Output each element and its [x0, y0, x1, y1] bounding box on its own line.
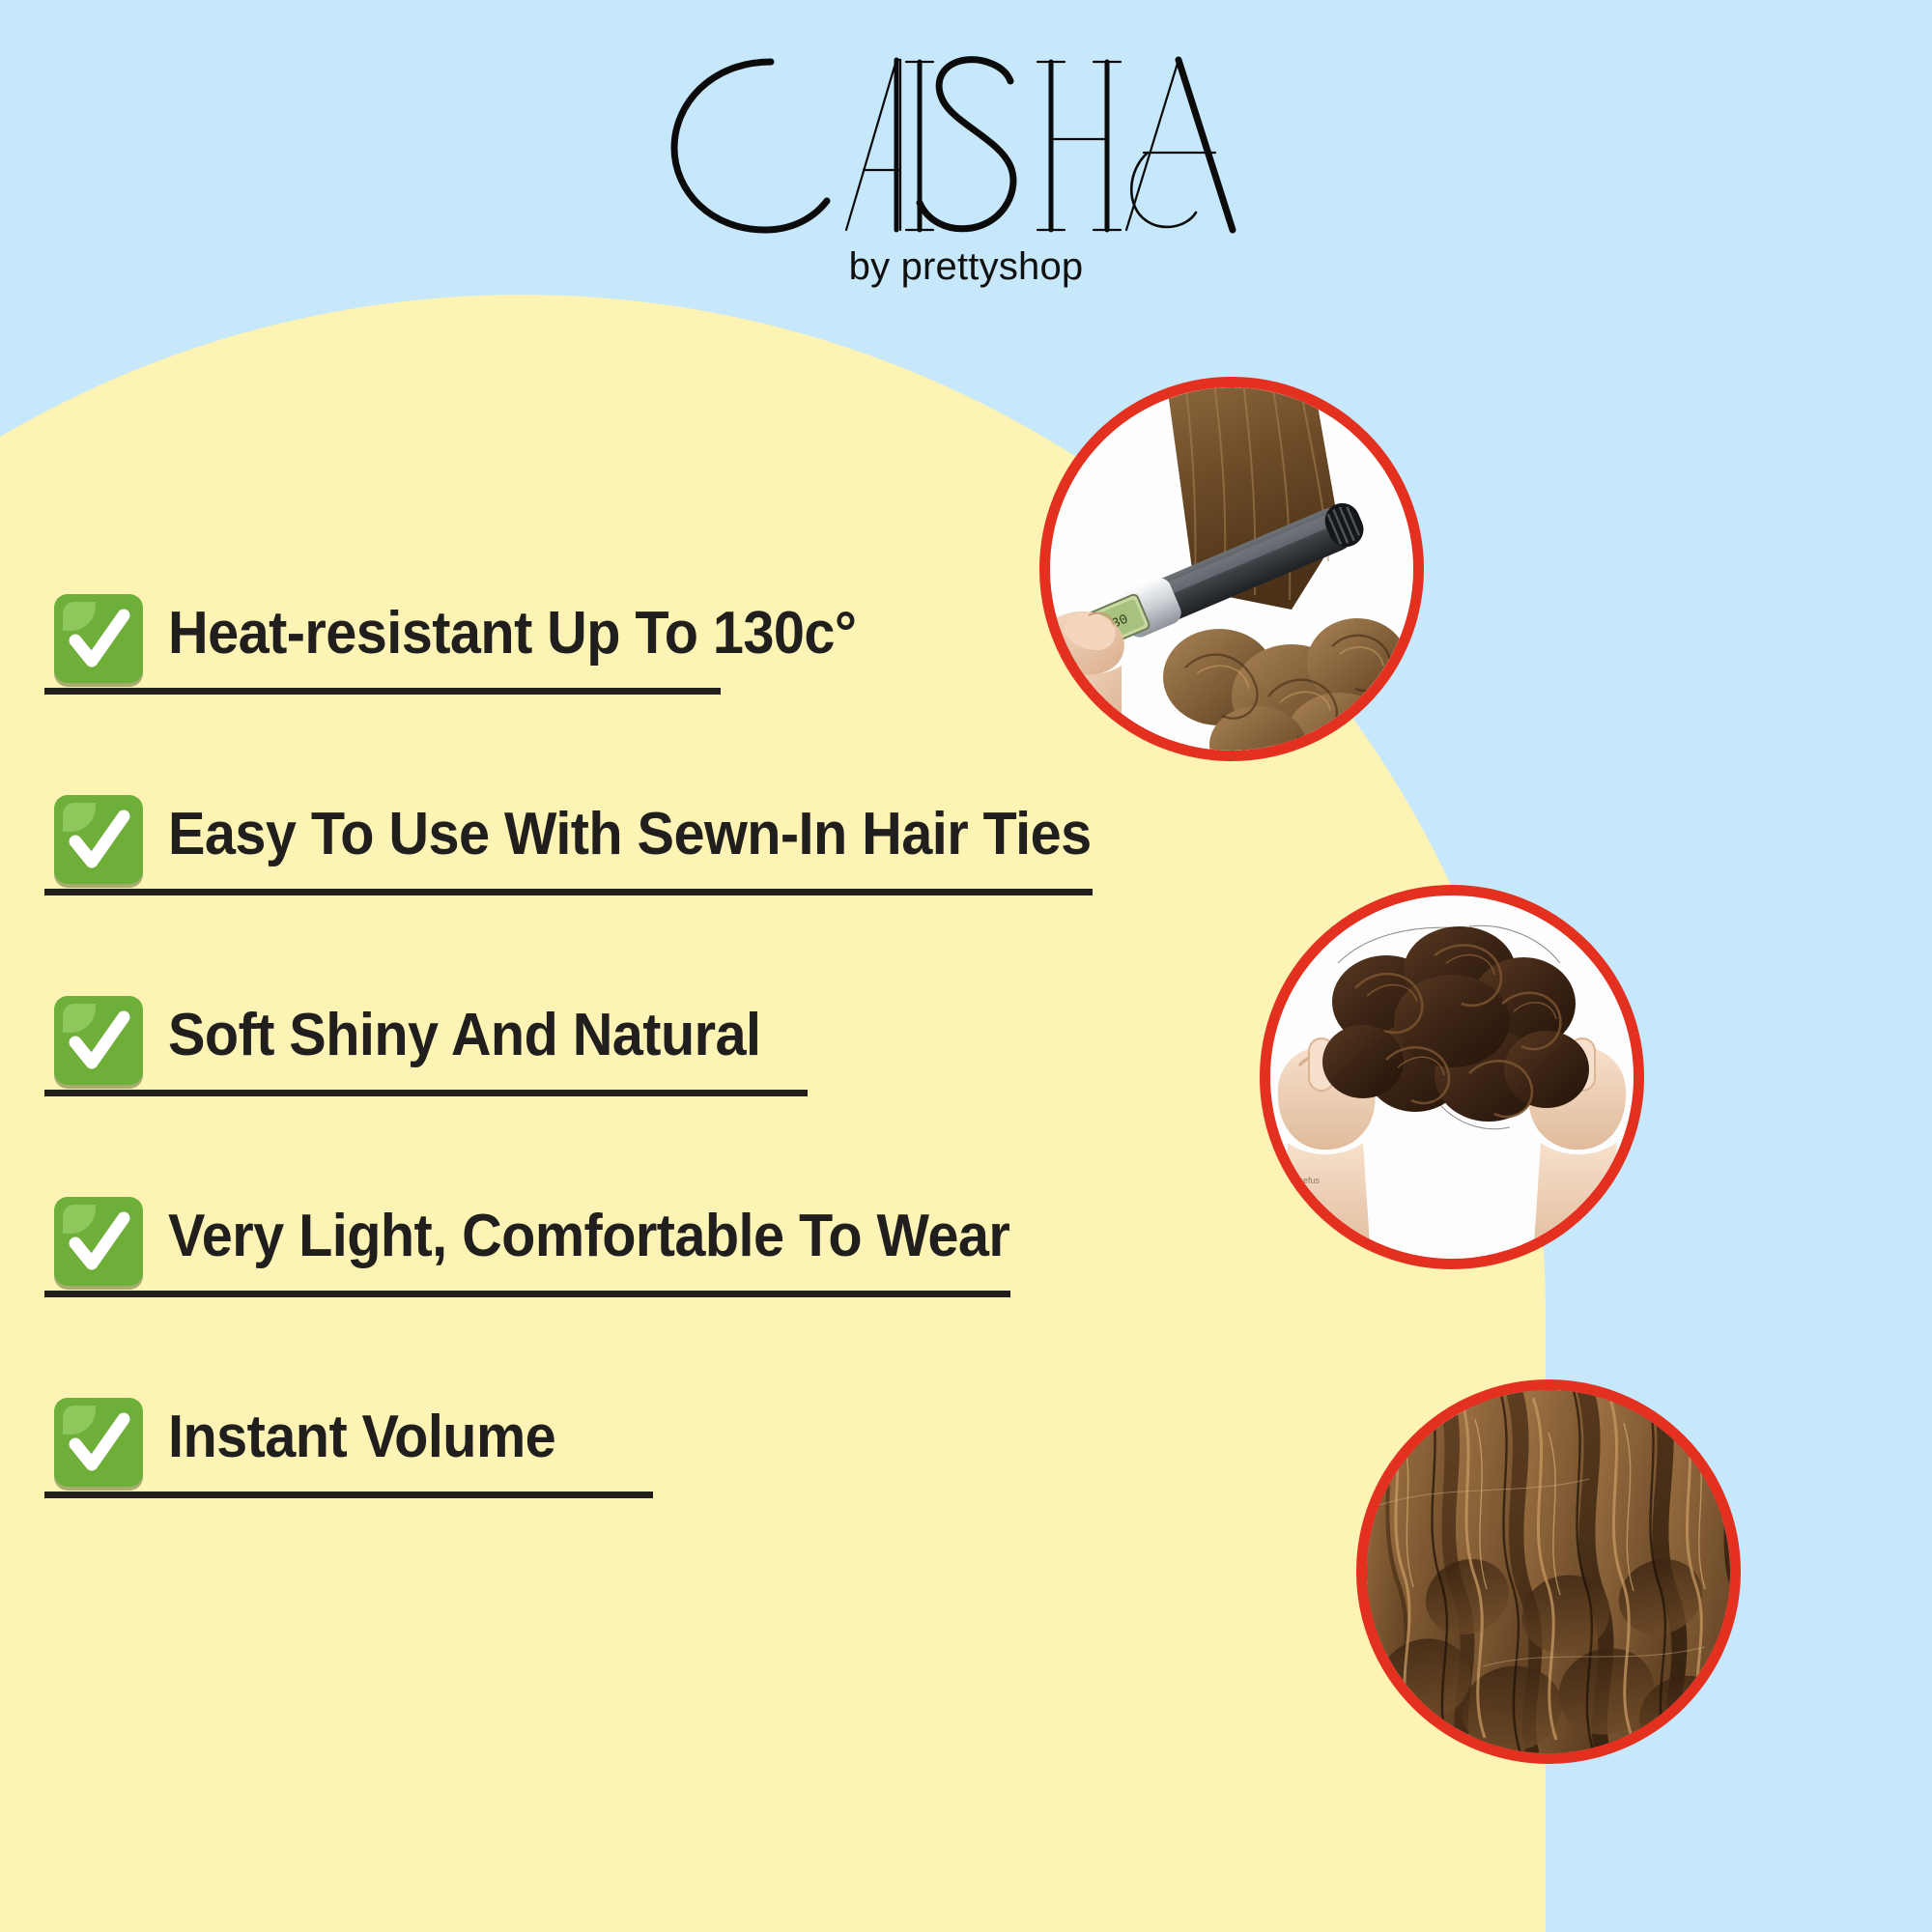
- green-check-icon: [54, 1197, 143, 1286]
- flat-iron-photo: 130: [1039, 377, 1424, 761]
- svg-text:ren: ren: [1299, 1189, 1312, 1199]
- hair-scrunchie-photo-inner: I refus ren: [1270, 895, 1634, 1259]
- feature-item-instant-volume: Instant Volume: [54, 1398, 1161, 1487]
- flat-iron-illustration: 130: [1050, 387, 1413, 751]
- feature-item-soft-shiny-natural: Soft Shiny And Natural: [54, 996, 1161, 1085]
- feature-label: Instant Volume: [168, 1407, 555, 1477]
- flat-iron-photo-inner: 130: [1050, 387, 1413, 751]
- feature-underline: [44, 889, 1093, 895]
- feature-item-heat-resistant: Heat-resistant Up To 130c°: [54, 594, 1161, 683]
- green-check-icon: [54, 594, 143, 683]
- feature-label: Very Light, Comfortable To Wear: [168, 1207, 1009, 1276]
- brown-curls-photo: [1356, 1379, 1741, 1764]
- feature-underline: [44, 1492, 653, 1498]
- green-check-icon: [54, 1398, 143, 1487]
- brown-curls-illustration: [1367, 1390, 1730, 1753]
- feature-item-very-light-comfortable: Very Light, Comfortable To Wear: [54, 1197, 1161, 1286]
- caisha-wordmark-icon: [657, 46, 1275, 240]
- hair-scrunchie-photo: I refus ren: [1260, 885, 1644, 1269]
- brown-curls-photo-inner: [1367, 1390, 1730, 1753]
- green-check-icon: [54, 996, 143, 1085]
- poster-canvas: by prettyshop Heat-resistant Up To 130c°…: [0, 0, 1932, 1932]
- svg-text:I refus: I refus: [1295, 1176, 1321, 1185]
- feature-list: Heat-resistant Up To 130c° Easy To Use W…: [54, 594, 1161, 1487]
- feature-underline: [44, 1090, 808, 1096]
- feature-underline: [44, 1291, 1010, 1297]
- feature-item-sewn-in-hair-ties: Easy To Use With Sewn-In Hair Ties: [54, 795, 1161, 884]
- brand-header: by prettyshop: [0, 46, 1932, 289]
- brand-tagline: by prettyshop: [0, 245, 1932, 289]
- green-check-icon: [54, 795, 143, 884]
- feature-label: Easy To Use With Sewn-In Hair Ties: [168, 805, 1092, 874]
- feature-underline: [44, 688, 721, 695]
- hair-scrunchie-illustration: I refus ren: [1270, 895, 1634, 1259]
- feature-label: Heat-resistant Up To 130c°: [168, 604, 856, 673]
- feature-label: Soft Shiny And Natural: [168, 1006, 760, 1075]
